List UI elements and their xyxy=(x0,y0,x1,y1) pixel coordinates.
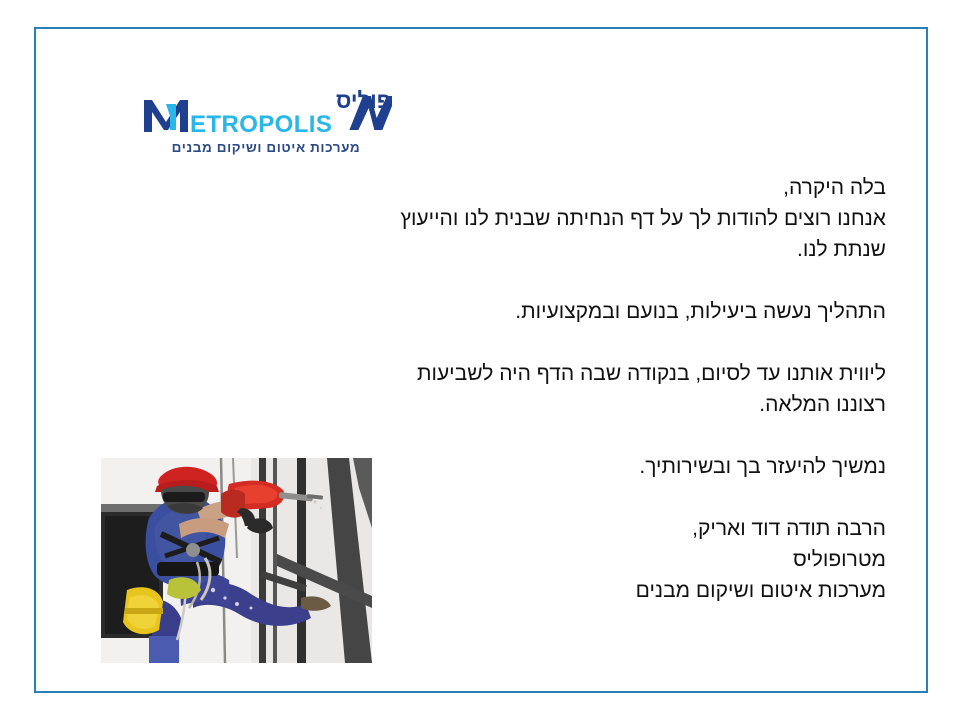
svg-text:ETROPOLIS: ETROPOLIS xyxy=(190,111,332,138)
letter-paragraph3-line1: ליווית אותנו עד לסיום, בנקודה שבה הדף הי… xyxy=(266,358,886,389)
company-logo: טרופוליס ETROPOLIS מערכות איטום ושיקום מ… xyxy=(140,86,392,160)
worker-photo-image xyxy=(101,458,372,663)
logo-tagline: מערכות איטום ושיקום מבנים xyxy=(140,140,392,155)
letter-greeting: בלה היקרה, xyxy=(266,172,886,203)
letter-paragraph3-line2: רצוננו המלאה. xyxy=(266,389,886,420)
paragraph-spacer xyxy=(266,265,886,296)
paragraph-spacer xyxy=(266,420,886,451)
letter-paragraph2: התהליך נעשה ביעילות, בנועם ובמקצועיות. xyxy=(266,296,886,327)
letter-paragraph1-line2: שנתת לנו. xyxy=(266,234,886,265)
worker-photo xyxy=(101,458,372,663)
logo-mark: טרופוליס ETROPOLIS xyxy=(140,86,392,142)
paragraph-spacer xyxy=(266,327,886,358)
letter-paragraph1-line1: אנחנו רוצים להודות לך על דף הנחיתה שבנית… xyxy=(266,203,886,234)
slide: טרופוליס ETROPOLIS מערכות איטום ושיקום מ… xyxy=(0,0,960,720)
